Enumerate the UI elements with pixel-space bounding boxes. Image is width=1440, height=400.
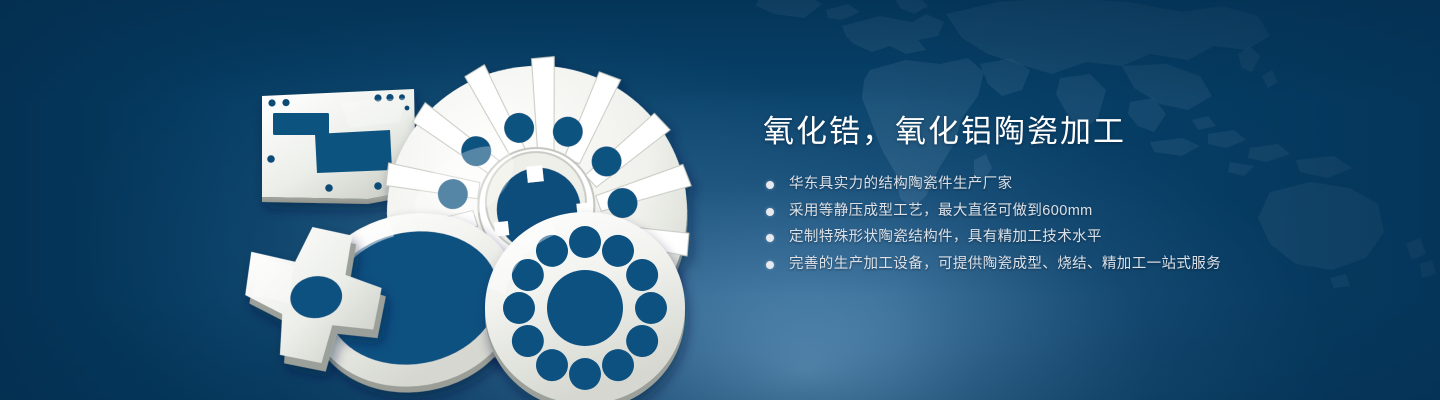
ceramic-perforated-disc [485, 212, 685, 400]
feature-list-item: 完善的生产加工设备，可提供陶瓷成型、烧结、精加工一站式服务 [763, 254, 1383, 276]
feature-list-item: 定制特殊形状陶瓷结构件，具有精加工技术水平 [763, 227, 1383, 249]
feature-list-item: 华东具实力的结构陶瓷件生产厂家 [763, 174, 1383, 196]
feature-list: 华东具实力的结构陶瓷件生产厂家 采用等静压成型工艺，最大直径可做到600mm 定… [763, 174, 1383, 275]
banner-title: 氧化锆，氧化铝陶瓷加工 [763, 112, 1383, 152]
bullet-dot-icon [766, 261, 774, 269]
banner-copy: 氧化锆，氧化铝陶瓷加工 华东具实力的结构陶瓷件生产厂家 采用等静压成型工艺，最大… [763, 112, 1383, 275]
product-photo-group [200, 40, 720, 390]
feature-text: 采用等静压成型工艺，最大直径可做到600mm [789, 203, 1093, 219]
bullet-dot-icon [766, 234, 774, 242]
feature-text: 华东具实力的结构陶瓷件生产厂家 [789, 176, 1013, 192]
feature-text: 完善的生产加工设备，可提供陶瓷成型、烧结、精加工一站式服务 [789, 256, 1221, 272]
bullet-dot-icon [766, 181, 774, 189]
feature-text: 定制特殊形状陶瓷结构件，具有精加工技术水平 [789, 229, 1102, 245]
bullet-dot-icon [766, 208, 774, 216]
ceramic-processing-banner: 氧化锆，氧化铝陶瓷加工 华东具实力的结构陶瓷件生产厂家 采用等静压成型工艺，最大… [0, 0, 1440, 400]
feature-list-item: 采用等静压成型工艺，最大直径可做到600mm [763, 201, 1383, 223]
